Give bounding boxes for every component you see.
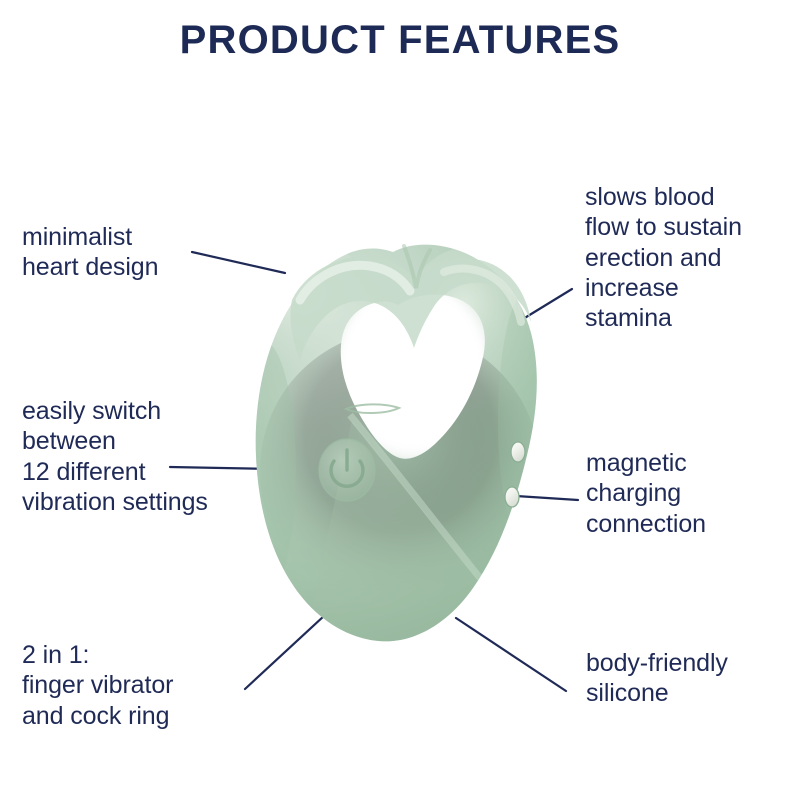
callout-magnetic-charging: magnetic charging connection [586, 448, 796, 539]
callout-easily-switch-settings: easily switch between 12 different vibra… [22, 396, 277, 517]
charging-contact-lower [505, 487, 519, 507]
callout-minimalist-heart-design: minimalist heart design [22, 222, 252, 283]
right-edge-shade [498, 290, 558, 550]
callout-body-friendly-silicone: body-friendly silicone [586, 648, 800, 709]
leader-line-magnetic [516, 496, 578, 500]
callout-slows-blood-flow: slows blood flow to sustain erection and… [585, 182, 800, 333]
charging-contact-upper [511, 442, 525, 462]
product-body [228, 245, 558, 665]
power-button[interactable] [319, 439, 375, 501]
leader-line-body-friendly [456, 618, 566, 691]
leader-line-slows-blood [523, 289, 572, 319]
product-features-infographic: PRODUCT FEATURES [0, 0, 800, 800]
callout-two-in-one: 2 in 1: finger vibrator and cock ring [22, 640, 282, 731]
